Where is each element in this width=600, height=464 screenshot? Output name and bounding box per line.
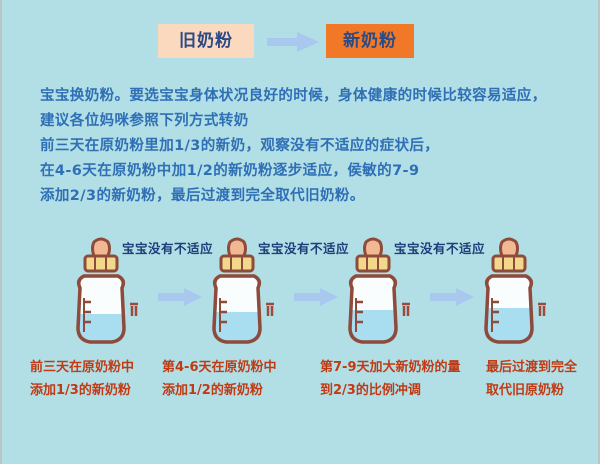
instruction-line-4: 在4-6天在原奶粉中加1/2的新奶粉逐步适应，侯敏的7-9 — [40, 159, 580, 184]
instruction-line-3: 前三天在原奶粉里加1/3的新奶，观察没有不适应的症状后， — [40, 134, 580, 159]
caption-step-4: 最后过渡到完全 取代旧原奶粉 — [486, 356, 577, 402]
caption-3-line-1: 第7-9天加大新奶粉的量 — [320, 356, 461, 379]
caption-4-line-2: 取代旧原奶粉 — [486, 379, 577, 402]
bottle-step-1 — [58, 236, 144, 348]
caption-step-3: 第7-9天加大新奶粉的量 到2/3的比例冲调 — [320, 356, 461, 402]
caption-1-line-2: 添加1/3的新奶粉 — [30, 379, 134, 402]
step-captions: 前三天在原奶粉中 添加1/3的新奶粉 第4-6天在原奶粉中 添加1/2的新奶粉 … — [2, 356, 600, 406]
instructions-paragraph: 宝宝换奶粉。要选宝宝身体状况良好的时候，身体健康的时候比较容易适应， 建议各位妈… — [40, 84, 580, 209]
transition-arrow-icon — [267, 32, 319, 52]
old-formula-badge: 旧奶粉 — [158, 24, 254, 58]
caption-2-line-2: 添加1/2的新奶粉 — [162, 379, 277, 402]
caption-1-line-1: 前三天在原奶粉中 — [30, 356, 134, 379]
caption-step-2: 第4-6天在原奶粉中 添加1/2的新奶粉 — [162, 356, 277, 402]
infographic-poster: 旧奶粉 新奶粉 宝宝换奶粉。要选宝宝身体状况良好的时候，身体健康的时候比较容易适… — [0, 0, 600, 464]
instruction-line-5: 添加2/3的新奶粉，最后过渡到完全取代旧奶粉。 — [40, 184, 580, 209]
new-formula-badge: 新奶粉 — [326, 24, 414, 58]
formula-transition-banner: 旧奶粉 新奶粉 — [2, 24, 600, 70]
caption-4-line-1: 最后过渡到完全 — [486, 356, 577, 379]
bottle-step-3 — [330, 236, 416, 348]
bottle-step-2 — [194, 236, 280, 348]
bottle-step-4 — [466, 236, 552, 348]
bottle-sequence: 宝宝没有不适应 宝宝没有不适应 宝宝没有不适应 — [2, 236, 600, 348]
caption-2-line-1: 第4-6天在原奶粉中 — [162, 356, 277, 379]
caption-step-1: 前三天在原奶粉中 添加1/3的新奶粉 — [30, 356, 134, 402]
instruction-line-2: 建议各位妈咪参照下列方式转奶 — [40, 109, 580, 134]
instruction-line-1: 宝宝换奶粉。要选宝宝身体状况良好的时候，身体健康的时候比较容易适应， — [40, 84, 580, 109]
caption-3-line-2: 到2/3的比例冲调 — [320, 379, 461, 402]
